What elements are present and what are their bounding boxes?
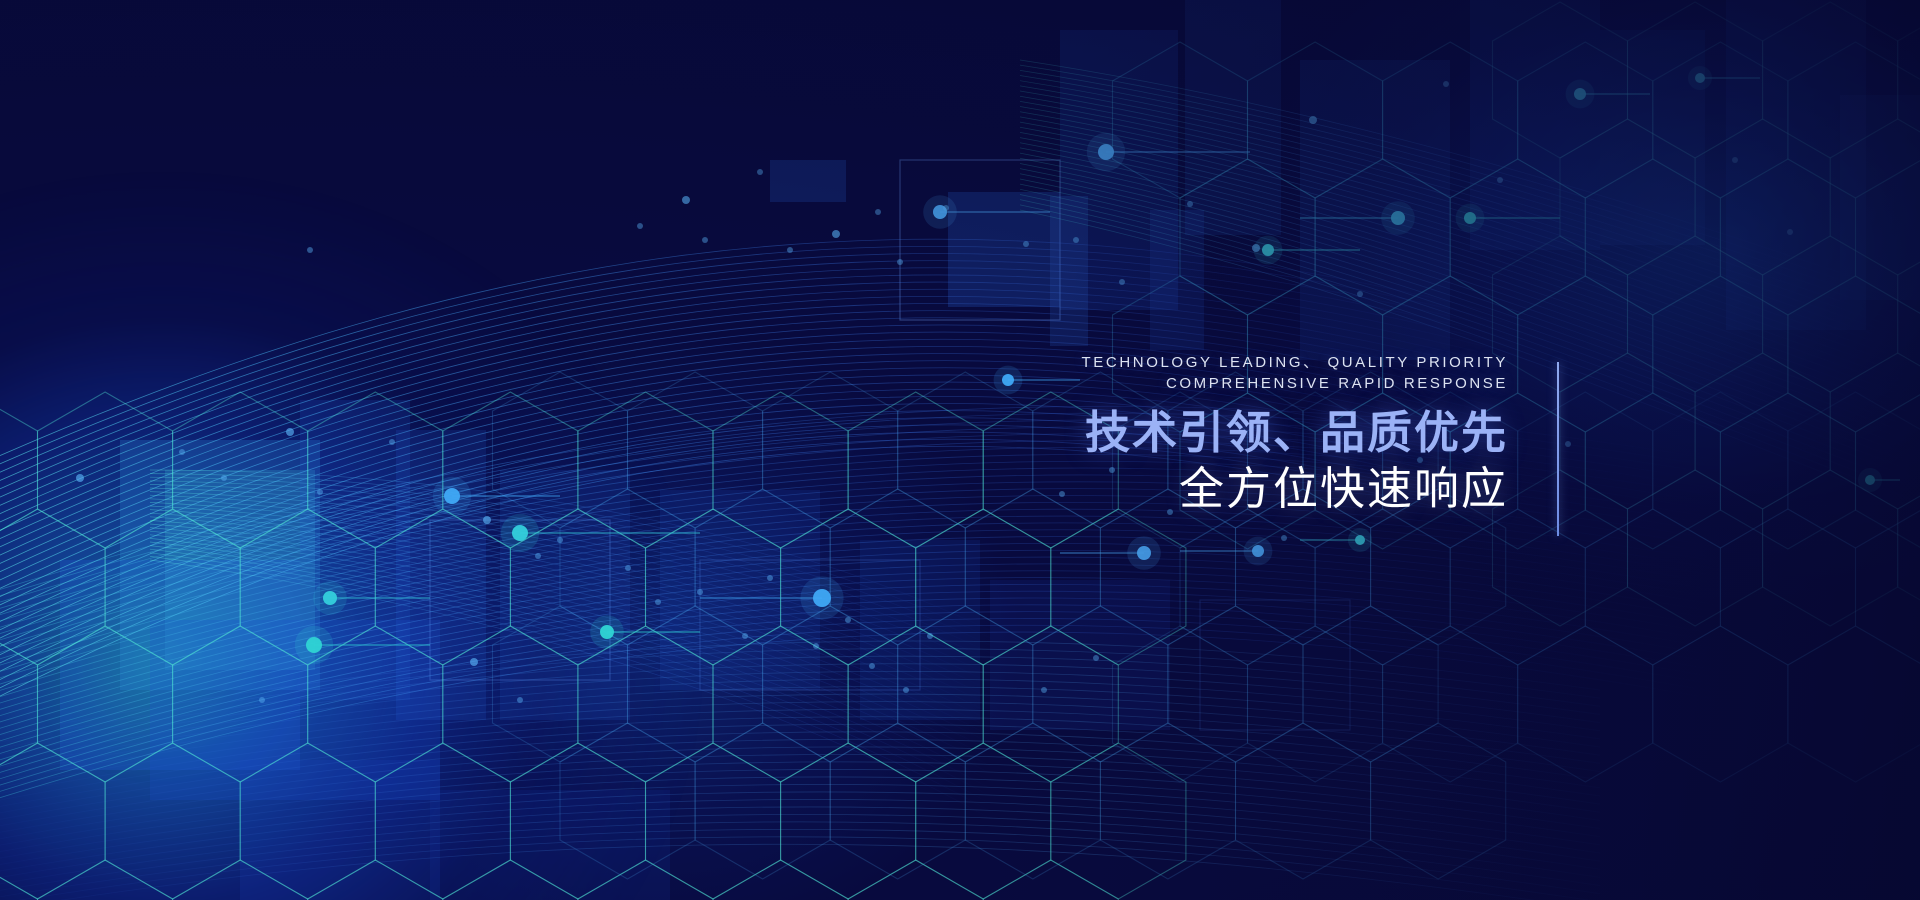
tech-banner: TECHNOLOGY LEADING、 QUALITY PRIORITY COM… [0, 0, 1920, 900]
heading-line-2: 全方位快速响应 [760, 461, 1508, 517]
eyebrow-line-1: TECHNOLOGY LEADING、 QUALITY PRIORITY [760, 352, 1508, 373]
heading-line-1: 技术引领、品质优先 [760, 405, 1508, 461]
caption-vertical-rule [1557, 362, 1559, 536]
eyebrow-line-2: COMPREHENSIVE RAPID RESPONSE [760, 373, 1508, 394]
caption-block: TECHNOLOGY LEADING、 QUALITY PRIORITY COM… [760, 352, 1508, 517]
